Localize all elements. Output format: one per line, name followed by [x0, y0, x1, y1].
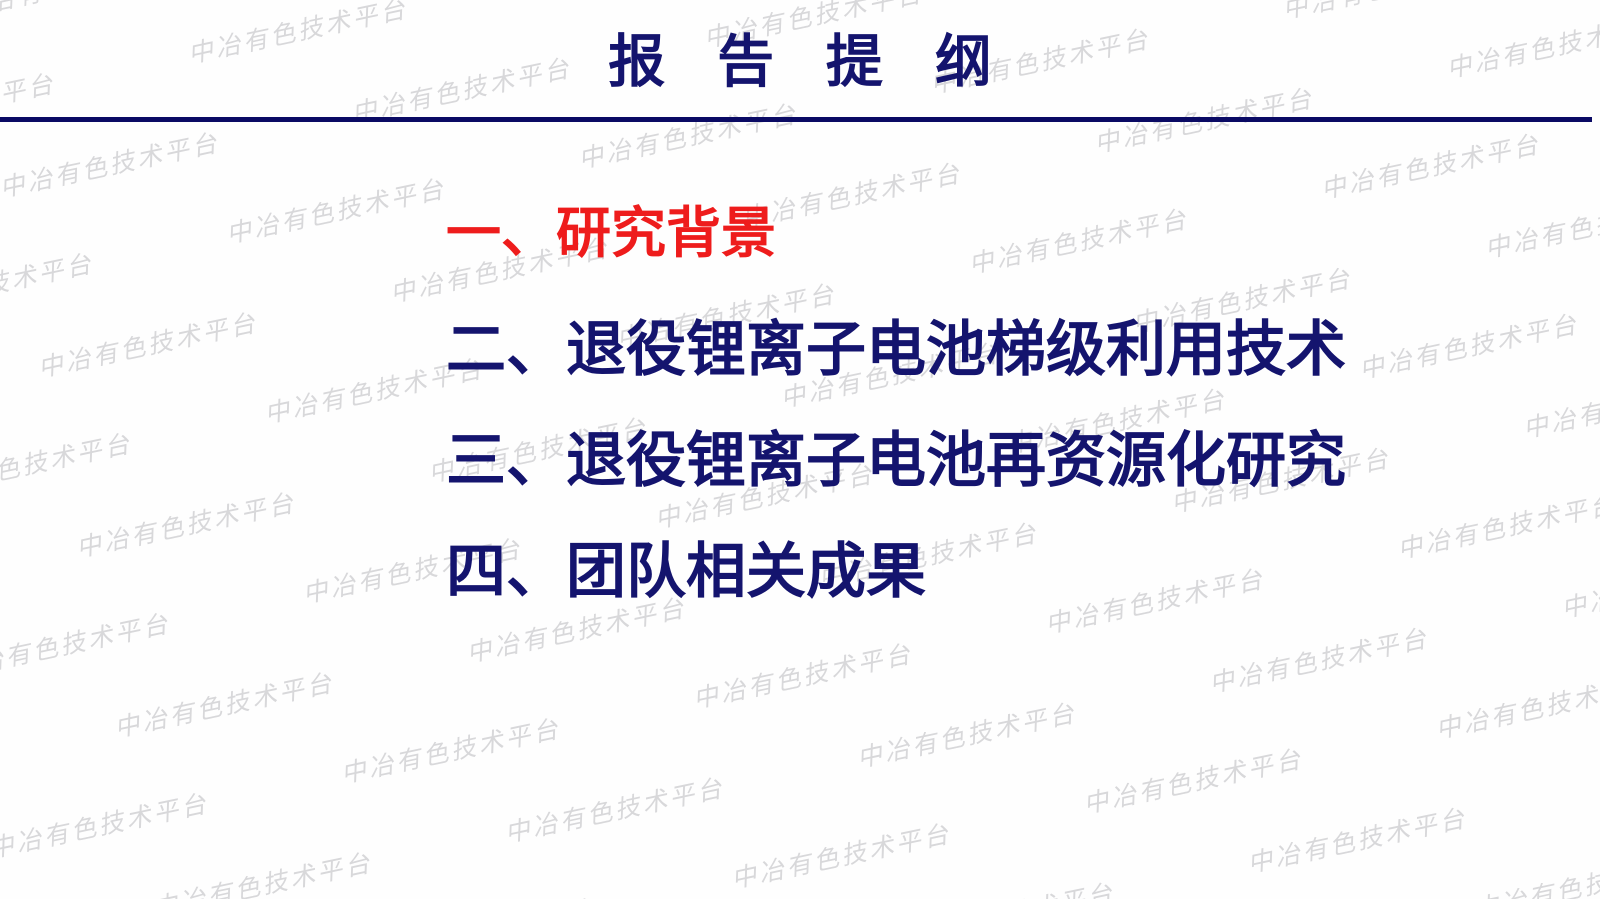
agenda-item-4-number: 四、	[446, 538, 566, 605]
agenda-item-3-label: 退役锂离子电池再资源化研究	[566, 427, 1346, 494]
agenda-item-4[interactable]: 四、团队相关成果	[446, 542, 1546, 602]
presentation-slide: 中冶有色技术平台中冶有色技术平台中冶有色技术平台中冶有色技术平台中冶有色技术平台…	[0, 0, 1600, 899]
agenda-item-1-label: 研究背景	[556, 202, 776, 264]
agenda-item-2-label: 退役锂离子电池梯级利用技术	[566, 316, 1346, 383]
agenda-list: 一、研究背景 二、退役锂离子电池梯级利用技术 三、退役锂离子电池再资源化研究 四…	[446, 206, 1546, 602]
title-divider	[0, 117, 1592, 122]
agenda-item-2-number: 二、	[446, 316, 566, 383]
page-title: 报 告 提 纲	[0, 30, 1600, 96]
agenda-item-3-number: 三、	[446, 427, 566, 494]
agenda-item-4-label: 团队相关成果	[566, 538, 926, 605]
agenda-item-1[interactable]: 一、研究背景	[446, 206, 1546, 261]
agenda-item-2[interactable]: 二、退役锂离子电池梯级利用技术	[446, 320, 1546, 380]
slide-content: 报 告 提 纲 一、研究背景 二、退役锂离子电池梯级利用技术 三、退役锂离子电池…	[0, 0, 1600, 899]
agenda-item-3[interactable]: 三、退役锂离子电池再资源化研究	[446, 431, 1546, 491]
agenda-item-1-number: 一、	[446, 202, 556, 264]
